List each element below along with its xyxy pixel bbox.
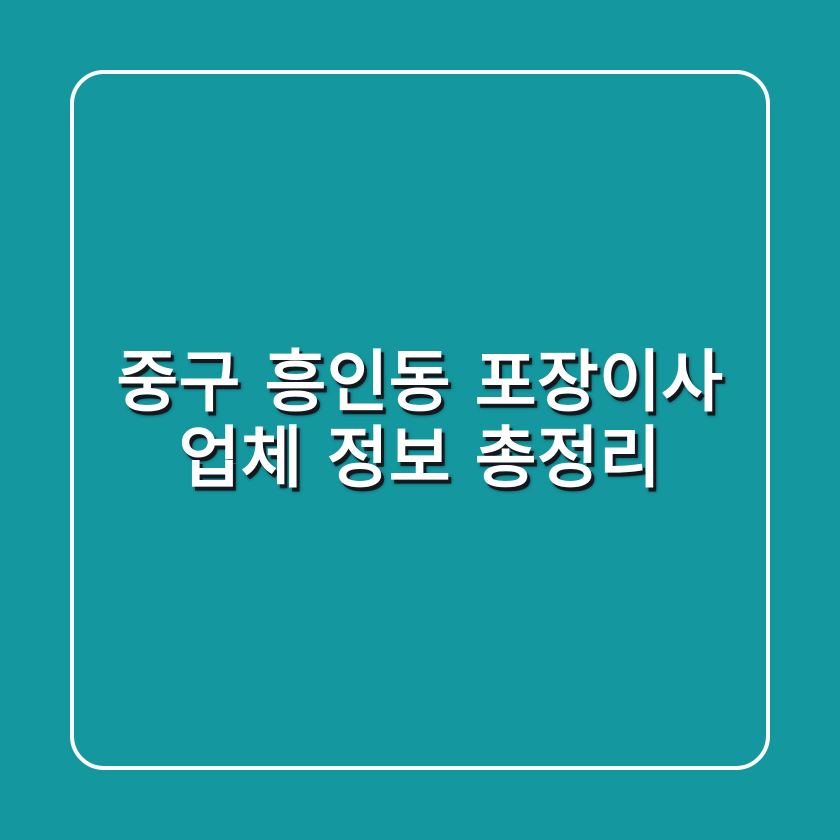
headline-line-1: 중구 흥인동 포장이사 <box>96 344 744 420</box>
headline-line-2: 업체 정보 총정리 <box>96 420 744 496</box>
thumbnail-card: 중구 흥인동 포장이사 업체 정보 총정리 <box>0 0 840 840</box>
headline-block: 중구 흥인동 포장이사 업체 정보 총정리 <box>0 0 840 840</box>
